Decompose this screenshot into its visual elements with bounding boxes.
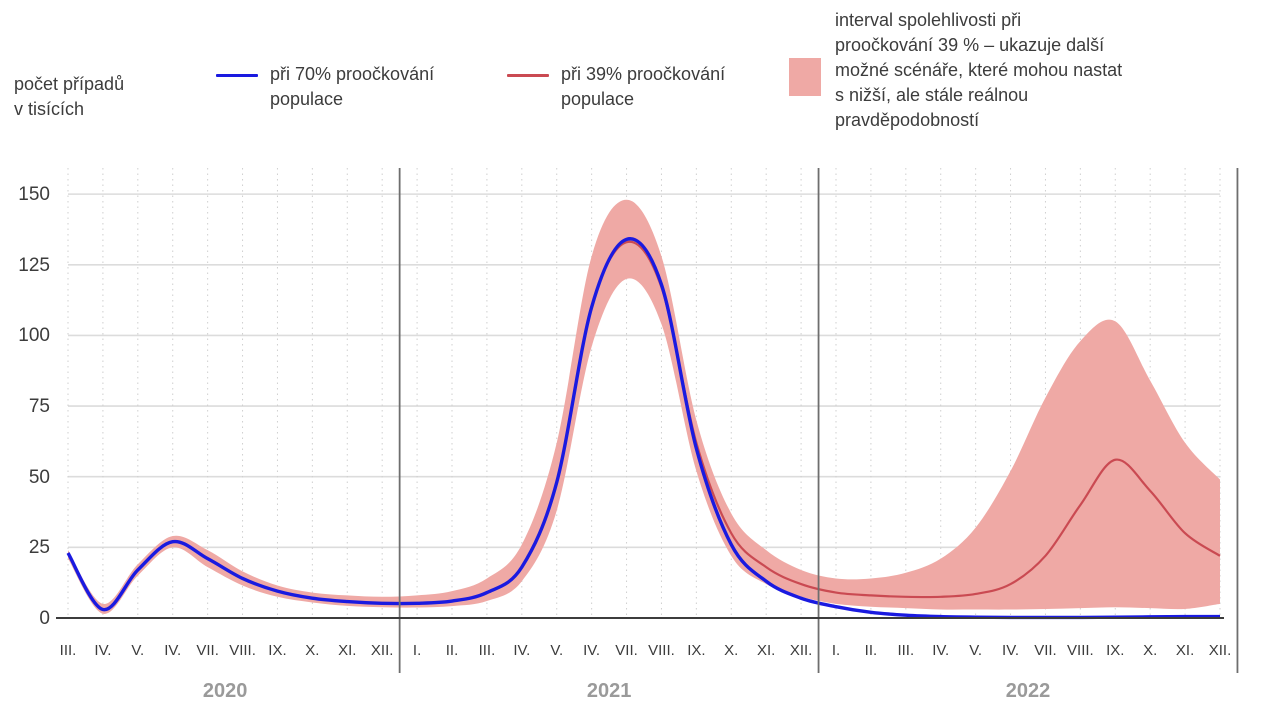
x-tick-label: IV.	[932, 643, 949, 658]
legend-line-swatch-red	[507, 74, 549, 77]
x-tick-label: II.	[446, 643, 459, 658]
y-tick-label-0: 0	[0, 609, 50, 628]
x-tick-label: III.	[60, 643, 77, 658]
x-tick-label: IV.	[94, 643, 111, 658]
legend-line-swatch-blue	[216, 74, 258, 77]
legend-label-70-percent: při 70% proočkování populace	[270, 62, 520, 112]
year-label-2022: 2022	[1006, 680, 1051, 703]
x-tick-label: XII.	[371, 643, 394, 658]
x-tick-label: X.	[1143, 643, 1157, 658]
x-tick-label: IV.	[164, 643, 181, 658]
y-axis-title: počet případů v tisících	[14, 72, 124, 122]
legend-item-70-percent: při 70% proočkování populace	[216, 62, 520, 112]
x-tick-label: V.	[969, 643, 982, 658]
chart-legend: počet případů v tisících při 70% proočko…	[0, 0, 1280, 150]
x-tick-label: VIII.	[1067, 643, 1094, 658]
x-tick-label: IX.	[268, 643, 286, 658]
x-tick-label: VII.	[1034, 643, 1057, 658]
x-tick-label: VII.	[196, 643, 219, 658]
x-tick-label: II.	[865, 643, 878, 658]
x-tick-label: III.	[897, 643, 914, 658]
x-tick-label: IV.	[583, 643, 600, 658]
x-tick-label: VIII.	[229, 643, 256, 658]
x-tick-label: X.	[305, 643, 319, 658]
x-tick-label: IX.	[687, 643, 705, 658]
legend-item-39-percent: při 39% proočkování populace	[507, 62, 811, 112]
year-label-2020: 2020	[203, 680, 248, 703]
legend-label-confidence-interval: interval spolehlivosti při proočkování 3…	[835, 8, 1235, 133]
x-tick-label: I.	[832, 643, 840, 658]
x-tick-label: VII.	[615, 643, 638, 658]
chart-canvas	[0, 150, 1280, 720]
x-tick-label: III.	[479, 643, 496, 658]
y-tick-label-75: 75	[0, 397, 50, 416]
chart-plot-area: 0255075100125150 III.IV.V.IV.VII.VIII.IX…	[0, 150, 1280, 720]
year-label-2021: 2021	[587, 680, 632, 703]
x-tick-label: XI.	[338, 643, 356, 658]
x-tick-label: XII.	[790, 643, 813, 658]
x-tick-label: I.	[413, 643, 421, 658]
x-tick-label: V.	[550, 643, 563, 658]
y-tick-label-150: 150	[0, 185, 50, 204]
x-tick-label: V.	[131, 643, 144, 658]
legend-box-swatch-band	[789, 58, 821, 96]
legend-item-confidence-interval: interval spolehlivosti při proočkování 3…	[789, 8, 1235, 133]
y-tick-label-25: 25	[0, 538, 50, 557]
x-tick-label: VIII.	[648, 643, 675, 658]
y-tick-label-50: 50	[0, 468, 50, 487]
legend-label-39-percent: při 39% proočkování populace	[561, 62, 811, 112]
x-tick-label: IV.	[1002, 643, 1019, 658]
x-tick-label: IX.	[1106, 643, 1124, 658]
x-tick-label: XI.	[1176, 643, 1194, 658]
x-tick-label: X.	[724, 643, 738, 658]
x-tick-label: XII.	[1209, 643, 1232, 658]
y-tick-label-125: 125	[0, 256, 50, 275]
x-tick-label: XI.	[757, 643, 775, 658]
x-tick-label: IV.	[513, 643, 530, 658]
y-tick-label-100: 100	[0, 326, 50, 345]
